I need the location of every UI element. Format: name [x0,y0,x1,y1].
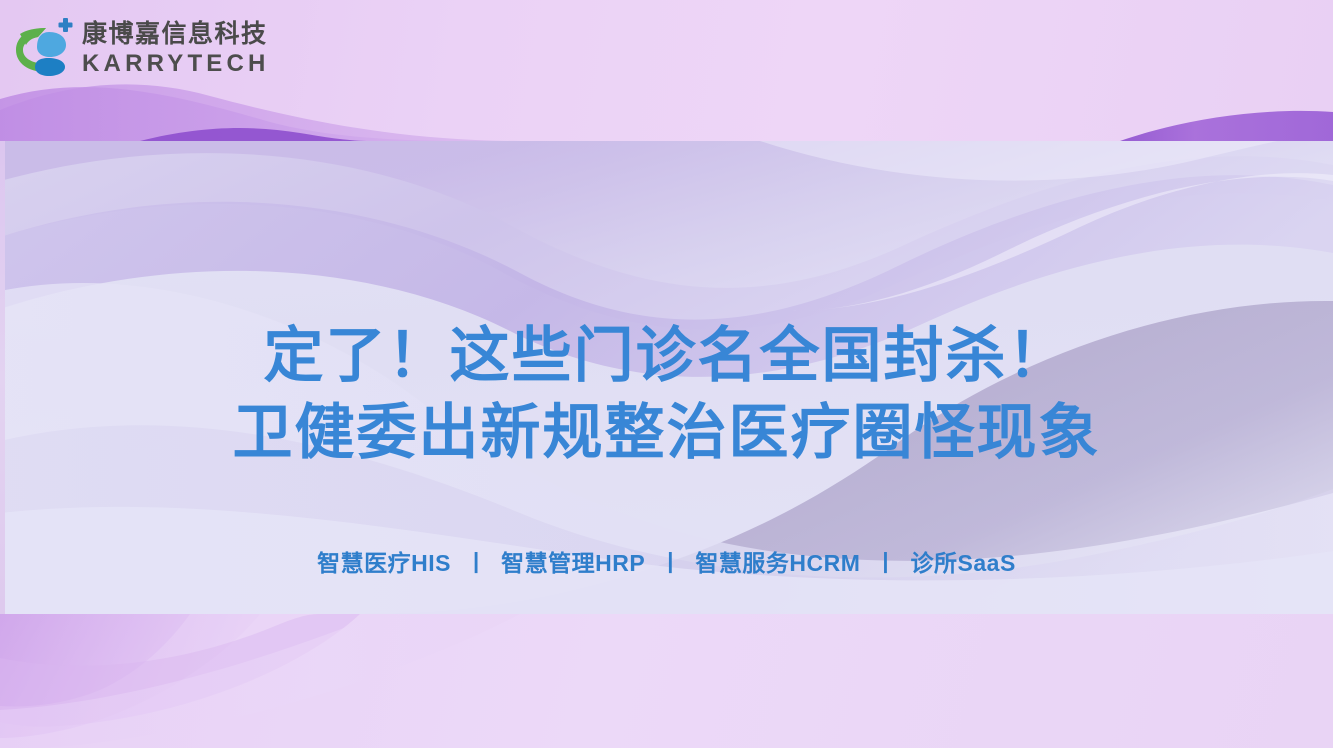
page-title: 定了！这些门诊名全国封杀！ 卫健委出新规整治医疗圈怪现象 [0,318,1333,472]
slide-canvas: 康博嘉信息科技 KARRYTECH 定了！这些门诊名全国封杀！ 卫健委出新规整治… [0,0,1333,748]
tagline-item-hrp[interactable]: 智慧管理HRP [501,544,645,578]
product-tagline: 智慧医疗HIS | 智慧管理HRP | 智慧服务HCRM | 诊所SaaS [0,544,1333,578]
footer-wave-graphic [0,614,1333,748]
plus-icon [59,18,73,32]
brand-text: 康博嘉信息科技 KARRYTECH [82,22,270,76]
footer-band [0,614,1333,748]
tagline-item-hcrm[interactable]: 智慧服务HCRM [695,544,860,578]
brand-name-cn: 康博嘉信息科技 [82,22,270,47]
tagline-separator: | [860,548,910,574]
karrytech-logo-icon [8,16,74,82]
brand-name-en: KARRYTECH [82,52,270,76]
tagline-separator: | [451,548,501,574]
tagline-item-his[interactable]: 智慧医疗HIS [317,544,451,578]
brand-logo[interactable]: 康博嘉信息科技 KARRYTECH [8,16,270,82]
headline-line-2: 卫健委出新规整治医疗圈怪现象 [0,395,1333,472]
headline-line-1: 定了！这些门诊名全国封杀！ [0,318,1333,395]
tagline-item-saas[interactable]: 诊所SaaS [911,544,1016,578]
tagline-separator: | [645,548,695,574]
